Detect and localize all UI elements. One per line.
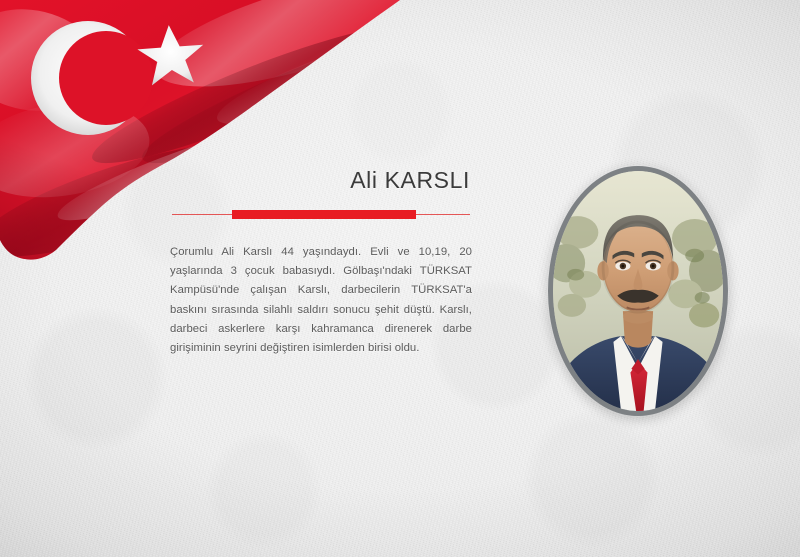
turkish-flag xyxy=(0,0,420,260)
page-title: Ali KARSLI xyxy=(172,168,470,192)
biography-text: Çorumlu Ali Karslı 44 yaşındaydı. Evli v… xyxy=(170,243,472,358)
title-block: Ali KARSLI xyxy=(172,168,470,192)
divider-thick-bar xyxy=(232,210,416,219)
memorial-card: Ali KARSLI Çorumlu Ali Karslı 44 yaşında… xyxy=(0,0,800,557)
red-divider xyxy=(172,210,470,220)
ali-karsli-portrait xyxy=(548,166,728,416)
turkish-flag-svg xyxy=(0,0,420,260)
portrait-svg xyxy=(553,171,723,411)
